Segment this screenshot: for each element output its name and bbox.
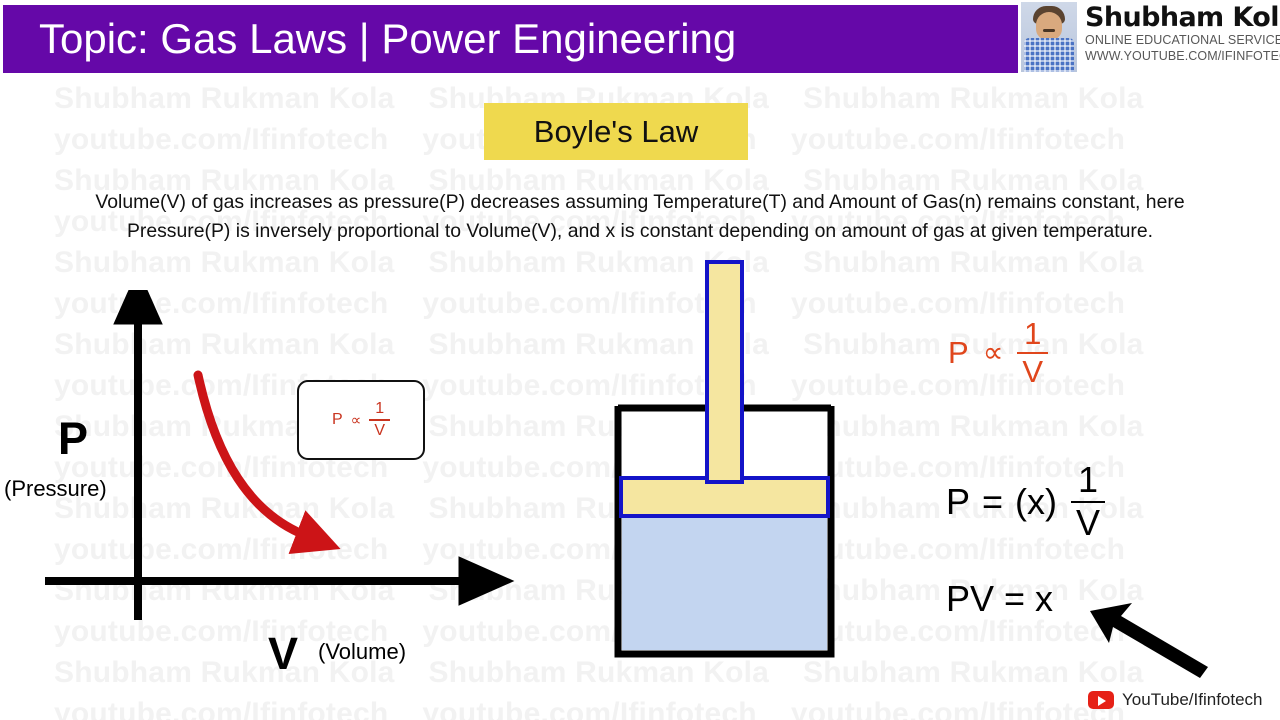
header-bar: Topic: Gas Laws | Power Engineering [3,5,1018,73]
proportional-icon: ∝ [351,411,362,429]
equation-constant: (x) [1015,481,1057,523]
equation-proportional-fraction: 1 V [1017,318,1048,387]
watermark-text: youtube.com/Ifinfotech [422,697,756,720]
brand-logo: Shubham Kola ONLINE EDUCATIONAL SERVICES… [1021,2,1277,74]
brand-subtitle-url: WWW.YOUTUBE.COM/IFINFOTECH [1085,48,1280,64]
gas-region [622,512,827,650]
slide-canvas: Shubham Rukman KolaShubham Rukman KolaSh… [0,0,1280,720]
watermark-text: youtube.com/Ifinfotech [54,697,388,720]
equals-sign: = [982,481,1003,523]
graph-formula: P ∝ 1 V [332,401,390,440]
photo-moustache [1043,29,1055,32]
watermark-text: youtube.com/Ifinfotech [54,123,388,156]
graph-formula-left: P [332,411,343,429]
equation-proportional-numerator: 1 [1019,318,1046,350]
equation-proportional: P ∝ 1 V [948,318,1048,387]
watermark-text: Shubham Rukman Kola [54,246,395,279]
piston-cylinder-diagram [600,250,880,670]
y-axis-symbol: P [58,413,88,465]
proportional-icon: ∝ [983,335,1004,370]
description-line-1: Volume(V) of gas increases as pressure(P… [8,188,1272,217]
graph-formula-box: P ∝ 1 V [297,380,425,460]
equation-equality-fraction: 1 V [1071,462,1105,541]
watermark-text: youtube.com/Ifinfotech [791,697,1125,720]
brand-name: Shubham Kola [1085,3,1280,32]
brand-text-block: Shubham Kola ONLINE EDUCATIONAL SERVICES… [1085,2,1280,64]
youtube-channel-label: YouTube/Ifinfotech [1122,690,1263,710]
law-title-banner: Boyle's Law [484,103,748,160]
watermark-text: Shubham Rukman Kola [803,82,1144,115]
description-paragraph: Volume(V) of gas increases as pressure(P… [8,188,1272,246]
piston-rod [707,262,742,482]
arrow-up-left-icon [1080,585,1220,685]
equation-product: PV = x [946,578,1053,620]
equation-equality-left: P [946,481,970,523]
law-title-text: Boyle's Law [534,114,698,150]
fraction-bar [369,419,390,421]
equation-equality: P = (x) 1 V [946,462,1105,541]
equation-equality-denominator: V [1071,505,1105,542]
youtube-play-icon [1088,691,1114,709]
graph-formula-fraction: 1 V [369,401,390,440]
youtube-badge[interactable]: YouTube/Ifinfotech [1088,690,1263,710]
description-line-2: Pressure(P) is inversely proportional to… [8,217,1272,246]
presenter-photo-icon [1021,2,1077,72]
graph-formula-denominator: V [369,423,390,439]
pv-curve [198,375,307,536]
x-axis-symbol: V [268,628,298,680]
page-title: Topic: Gas Laws | Power Engineering [39,15,736,63]
photo-shirt [1024,38,1074,72]
watermark-text: youtube.com/Ifinfotech [791,123,1125,156]
equation-proportional-denominator: V [1017,356,1048,388]
equation-proportional-row: P ∝ 1 V [948,318,1048,387]
equation-equality-numerator: 1 [1073,462,1103,499]
watermark-text: Shubham Rukman Kola [54,82,395,115]
equation-equality-row: P = (x) 1 V [946,462,1105,541]
brand-subtitle-services: ONLINE EDUCATIONAL SERVICES [1085,32,1280,48]
graph-formula-numerator: 1 [370,401,389,417]
x-axis-label: (Volume) [318,639,406,665]
y-axis-label: (Pressure) [4,476,107,502]
equation-proportional-left: P [948,335,969,371]
